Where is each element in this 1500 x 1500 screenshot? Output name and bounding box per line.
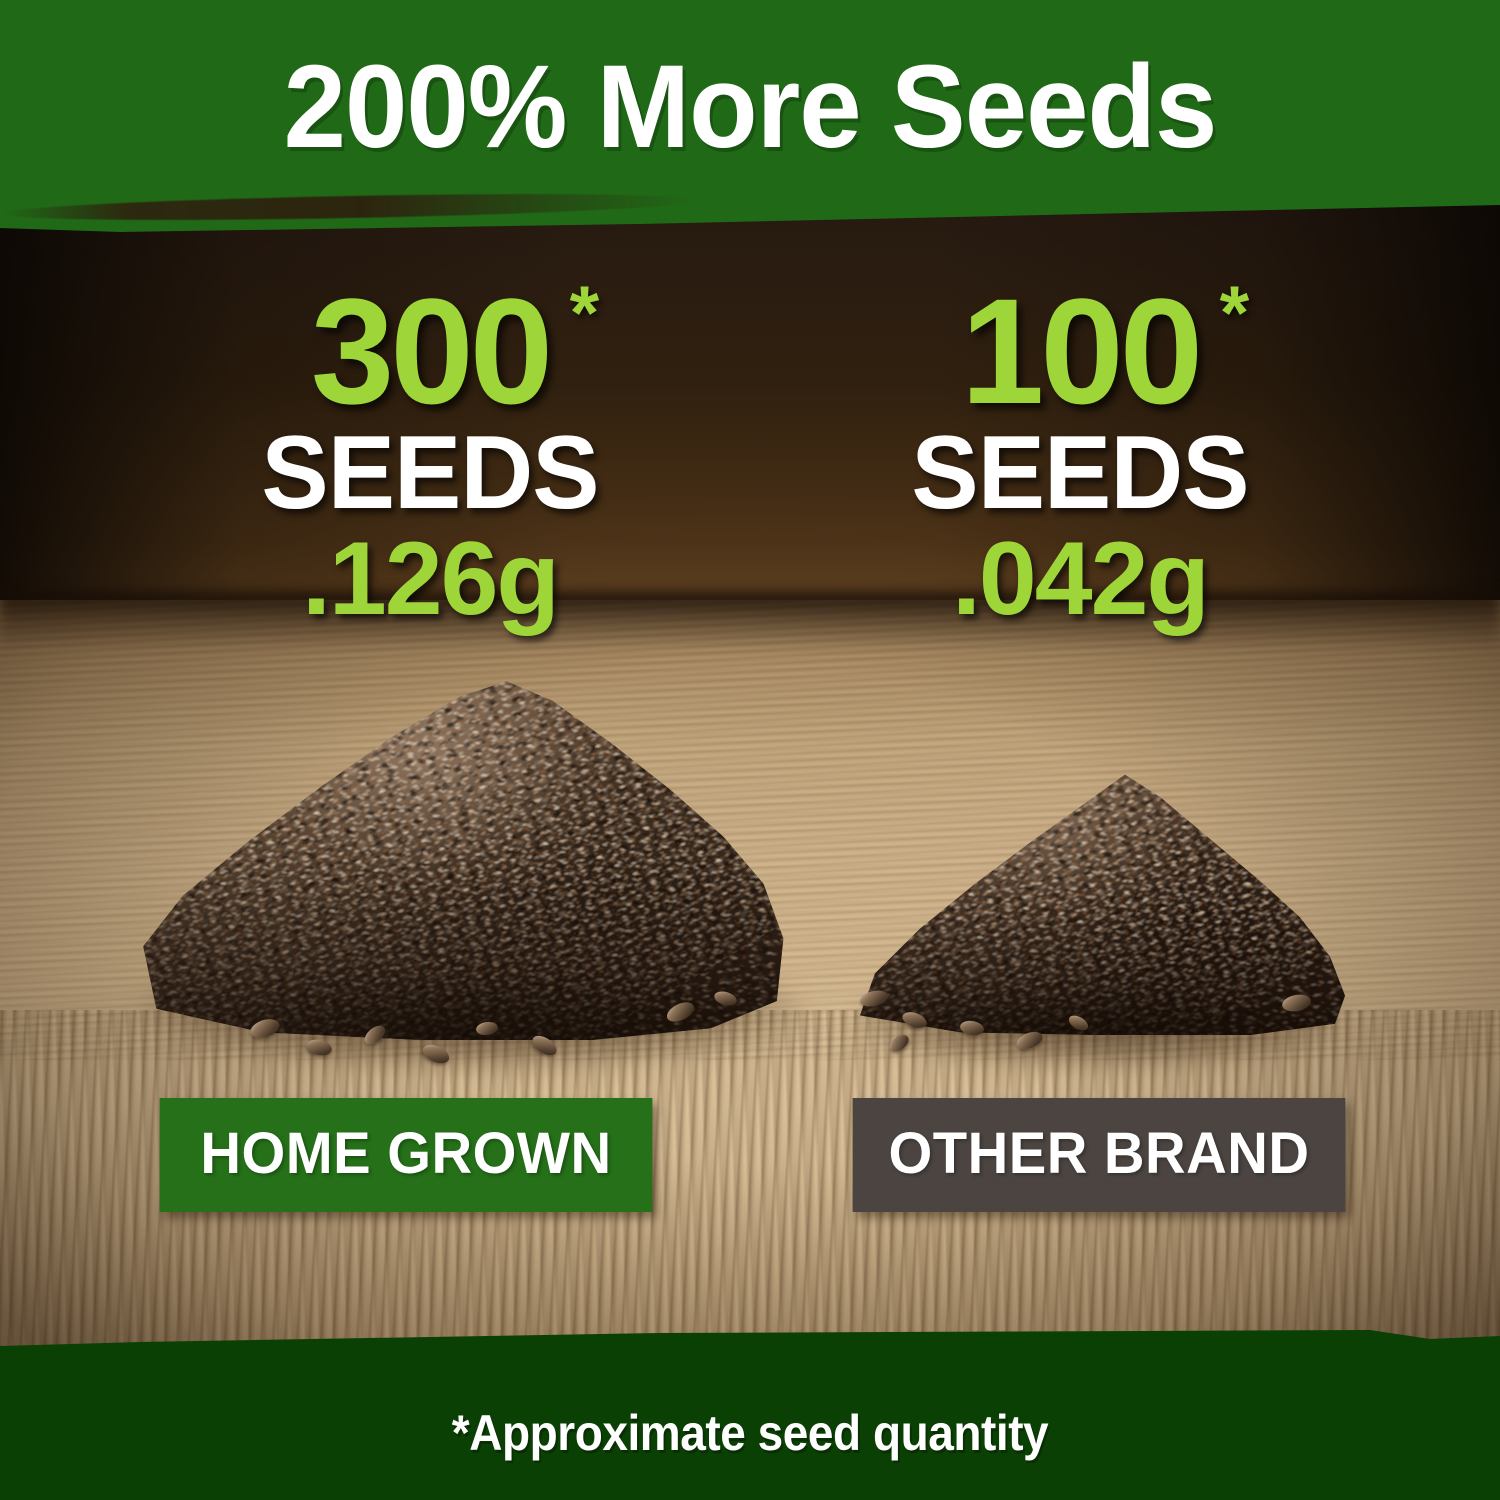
- seed-unit-label-left: SEEDS: [158, 420, 701, 526]
- seed-weight-right: .042g: [800, 526, 1360, 632]
- seed-pile-small-mound: [850, 755, 1350, 1035]
- seed-count-number-left: 300: [311, 267, 549, 435]
- seed-count-value-right: 100 *: [961, 282, 1199, 420]
- label-plate-other-brand-text: OTHER BRAND: [888, 1120, 1309, 1187]
- label-plate-other-brand: OTHER BRAND: [853, 1098, 1346, 1212]
- footnote-text: *Approximate seed quantity: [60, 1404, 1440, 1462]
- seed-pile-large: [110, 620, 830, 1080]
- page-title: 200% More Seeds: [38, 48, 1463, 166]
- product-comparison-poster: 200% More Seeds 300 * SEEDS .126g 100 * …: [0, 0, 1500, 1500]
- seed-pile-large-mound: [130, 650, 790, 1040]
- asterisk-icon: *: [570, 276, 596, 352]
- stat-count-wrapper: 300 *: [150, 282, 710, 420]
- asterisk-icon: *: [1220, 276, 1246, 352]
- seed-count-value-left: 300 *: [311, 282, 549, 420]
- label-plate-home-grown-text: HOME GROWN: [200, 1120, 611, 1187]
- stat-block-other-brand: 100 * SEEDS .042g: [800, 282, 1360, 632]
- seed-pile-small: [830, 745, 1390, 1085]
- seed-unit-label-right: SEEDS: [808, 420, 1351, 526]
- seed-count-number-right: 100: [961, 267, 1199, 435]
- seed-weight-left: .126g: [150, 526, 710, 632]
- label-plate-home-grown: HOME GROWN: [160, 1098, 653, 1212]
- stat-count-wrapper: 100 *: [800, 282, 1360, 420]
- stat-block-home-grown: 300 * SEEDS .126g: [150, 282, 710, 632]
